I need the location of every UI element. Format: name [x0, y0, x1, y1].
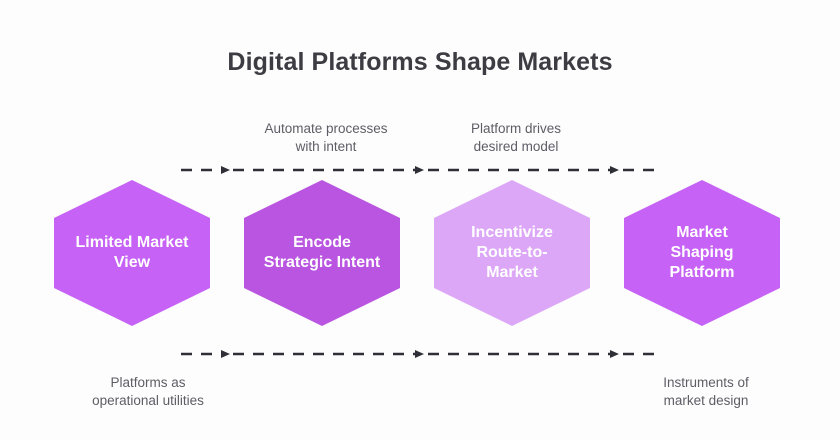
node-label-market-shaping-platform: Market Shaping Platform	[632, 223, 772, 283]
caption-instruments-of-market-design: Instruments of market design	[606, 374, 806, 410]
node-market-shaping-platform[interactable]: Market Shaping Platform	[624, 180, 780, 326]
node-label-incentivize-route-to-market: Incentivize Route-to- Market	[442, 223, 582, 283]
node-incentivize-route-to-market[interactable]: Incentivize Route-to- Market	[434, 180, 590, 326]
page-title: Digital Platforms Shape Markets	[0, 48, 840, 77]
node-encode-strategic-intent[interactable]: Encode Strategic Intent	[244, 180, 400, 326]
caption-automate-processes: Automate processes with intent	[226, 120, 426, 156]
node-label-encode-strategic-intent: Encode Strategic Intent	[252, 233, 392, 273]
caption-platforms-as-utilities: Platforms as operational utilities	[48, 374, 248, 410]
caption-platform-drives-model: Platform drives desired model	[416, 120, 616, 156]
node-label-limited-market-view: Limited Market View	[62, 233, 202, 273]
node-limited-market-view[interactable]: Limited Market View	[54, 180, 210, 326]
diagram-canvas: Digital Platforms Shape Markets Automate…	[0, 0, 840, 440]
